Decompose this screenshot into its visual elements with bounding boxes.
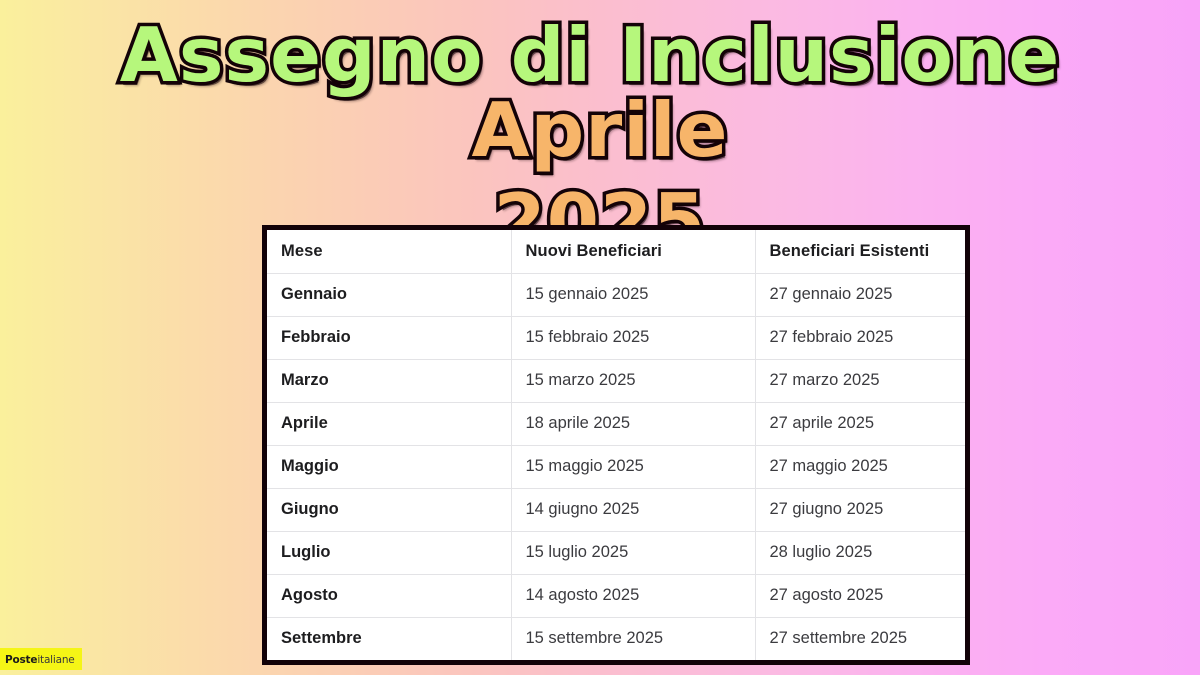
- cell-esistenti: 27 gennaio 2025: [755, 273, 965, 316]
- cell-esistenti: 27 marzo 2025: [755, 359, 965, 402]
- table-row: Gennaio 15 gennaio 2025 27 gennaio 2025: [267, 273, 965, 316]
- cell-nuovi: 15 luglio 2025: [511, 531, 755, 574]
- table-row: Febbraio 15 febbraio 2025 27 febbraio 20…: [267, 316, 965, 359]
- cell-nuovi: 15 marzo 2025: [511, 359, 755, 402]
- cell-nuovi: 15 settembre 2025: [511, 617, 755, 660]
- cell-nuovi: 15 febbraio 2025: [511, 316, 755, 359]
- cell-esistenti: 27 aprile 2025: [755, 402, 965, 445]
- watermark-brand-light: italiane: [37, 654, 74, 666]
- column-header-nuovi-beneficiari: Nuovi Beneficiari: [511, 230, 755, 273]
- cell-nuovi: 18 aprile 2025: [511, 402, 755, 445]
- cell-mese: Agosto: [267, 574, 511, 617]
- table-row: Marzo 15 marzo 2025 27 marzo 2025: [267, 359, 965, 402]
- cell-esistenti: 27 agosto 2025: [755, 574, 965, 617]
- cell-esistenti: 27 febbraio 2025: [755, 316, 965, 359]
- table-row: Settembre 15 settembre 2025 27 settembre…: [267, 617, 965, 660]
- cell-nuovi: 14 giugno 2025: [511, 488, 755, 531]
- cell-esistenti: 27 giugno 2025: [755, 488, 965, 531]
- cell-mese: Settembre: [267, 617, 511, 660]
- cell-mese: Maggio: [267, 445, 511, 488]
- poster-canvas: Assegno di InclusioneAprile 2025 Mese Nu…: [0, 0, 1200, 675]
- cell-esistenti: 27 maggio 2025: [755, 445, 965, 488]
- payment-schedule-table: Mese Nuovi Beneficiari Beneficiari Esist…: [267, 230, 965, 660]
- title-text-green: Assegno di Inclusione: [120, 18, 1060, 93]
- table-row: Giugno 14 giugno 2025 27 giugno 2025: [267, 488, 965, 531]
- poste-italiane-watermark: Posteitaliane: [0, 648, 82, 670]
- title-text-orange-month: Aprile: [471, 93, 728, 168]
- table-row: Luglio 15 luglio 2025 28 luglio 2025: [267, 531, 965, 574]
- table-row: Agosto 14 agosto 2025 27 agosto 2025: [267, 574, 965, 617]
- cell-nuovi: 15 maggio 2025: [511, 445, 755, 488]
- poster-title: Assegno di InclusioneAprile 2025: [0, 4, 1200, 259]
- table-head: Mese Nuovi Beneficiari Beneficiari Esist…: [267, 230, 965, 273]
- cell-nuovi: 14 agosto 2025: [511, 574, 755, 617]
- cell-mese: Luglio: [267, 531, 511, 574]
- column-header-beneficiari-esistenti: Beneficiari Esistenti: [755, 230, 965, 273]
- cell-esistenti: 28 luglio 2025: [755, 531, 965, 574]
- cell-mese: Marzo: [267, 359, 511, 402]
- table-row: Maggio 15 maggio 2025 27 maggio 2025: [267, 445, 965, 488]
- table-body: Gennaio 15 gennaio 2025 27 gennaio 2025 …: [267, 273, 965, 660]
- payment-schedule-table-container: Mese Nuovi Beneficiari Beneficiari Esist…: [262, 225, 970, 665]
- table-row: Aprile 18 aprile 2025 27 aprile 2025: [267, 402, 965, 445]
- cell-mese: Febbraio: [267, 316, 511, 359]
- cell-mese: Gennaio: [267, 273, 511, 316]
- cell-nuovi: 15 gennaio 2025: [511, 273, 755, 316]
- cell-mese: Aprile: [267, 402, 511, 445]
- watermark-brand-bold: Poste: [5, 654, 37, 666]
- title-line-primary: Assegno di InclusioneAprile: [0, 4, 1200, 168]
- cell-mese: Giugno: [267, 488, 511, 531]
- cell-esistenti: 27 settembre 2025: [755, 617, 965, 660]
- table-header-row: Mese Nuovi Beneficiari Beneficiari Esist…: [267, 230, 965, 273]
- column-header-mese: Mese: [267, 230, 511, 273]
